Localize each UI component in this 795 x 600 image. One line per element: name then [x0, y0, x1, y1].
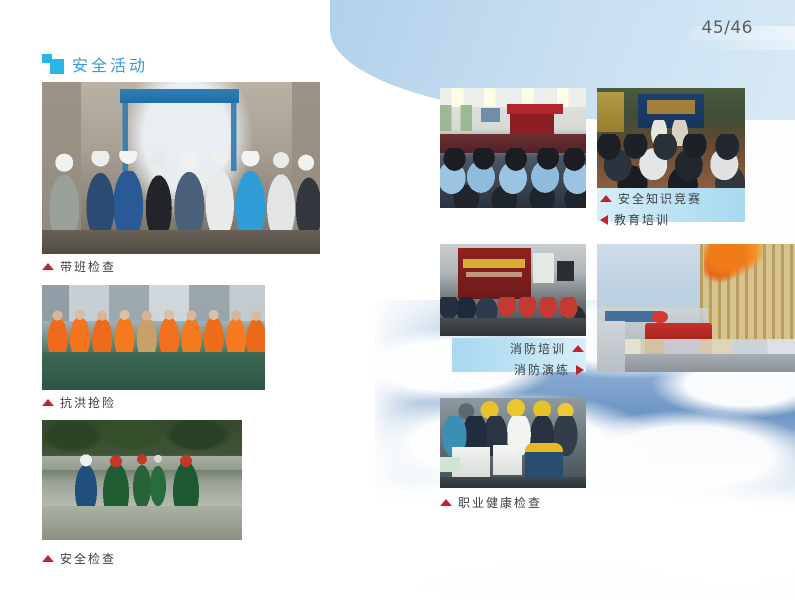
safety-inspection-photo — [42, 420, 242, 540]
triangle-up-icon — [600, 195, 612, 202]
shift-leader-inspection-photo — [42, 82, 320, 254]
triangle-right-icon — [576, 365, 584, 375]
triangle-up-icon — [572, 345, 584, 352]
caption-text: 安全检查 — [60, 550, 116, 567]
triangle-left-icon — [600, 215, 608, 225]
caption-text: 安全知识竞赛 — [618, 190, 702, 207]
caption-flood-rescue: 抗洪抢险 — [42, 394, 116, 411]
caption-text: 教育培训 — [614, 211, 670, 228]
page-root: 45/46 安全活动 带班检查 抗洪抢险 — [0, 0, 795, 600]
caption-group-fire: 消防培训 消防演练 — [452, 340, 584, 378]
caption-text: 职业健康检查 — [458, 494, 542, 511]
fire-drill-photo — [597, 244, 795, 372]
occupational-health-photo — [440, 398, 586, 488]
flood-rescue-photo — [42, 285, 265, 390]
blue-square-icon — [42, 54, 64, 74]
caption-occupational-health: 职业健康检查 — [440, 494, 542, 511]
caption-fire-training: 消防培训 — [510, 340, 584, 357]
page-title: 安全活动 — [72, 52, 148, 76]
caption-knowledge-contest: 安全知识竞赛 — [600, 190, 702, 207]
triangle-up-icon — [42, 263, 54, 270]
triangle-up-icon — [42, 555, 54, 562]
background-top-streak-secondary — [697, 40, 795, 50]
caption-safety-inspection: 安全检查 — [42, 550, 116, 567]
section-header: 安全活动 — [42, 52, 148, 76]
safety-knowledge-contest-photo — [597, 88, 745, 188]
caption-text: 带班检查 — [60, 258, 116, 275]
fire-training-photo — [440, 244, 586, 336]
caption-education-training: 教育培训 — [600, 211, 702, 228]
caption-fire-drill: 消防演练 — [514, 361, 584, 378]
caption-text: 抗洪抢险 — [60, 394, 116, 411]
caption-shift-leader-inspection: 带班检查 — [42, 258, 116, 275]
education-training-photo — [440, 88, 586, 208]
triangle-up-icon — [42, 399, 54, 406]
caption-group-training: 安全知识竞赛 教育培训 — [600, 190, 702, 228]
page-number: 45/46 — [702, 18, 754, 38]
triangle-up-icon — [440, 499, 452, 506]
caption-text: 消防培训 — [510, 340, 566, 357]
caption-text: 消防演练 — [514, 361, 570, 378]
